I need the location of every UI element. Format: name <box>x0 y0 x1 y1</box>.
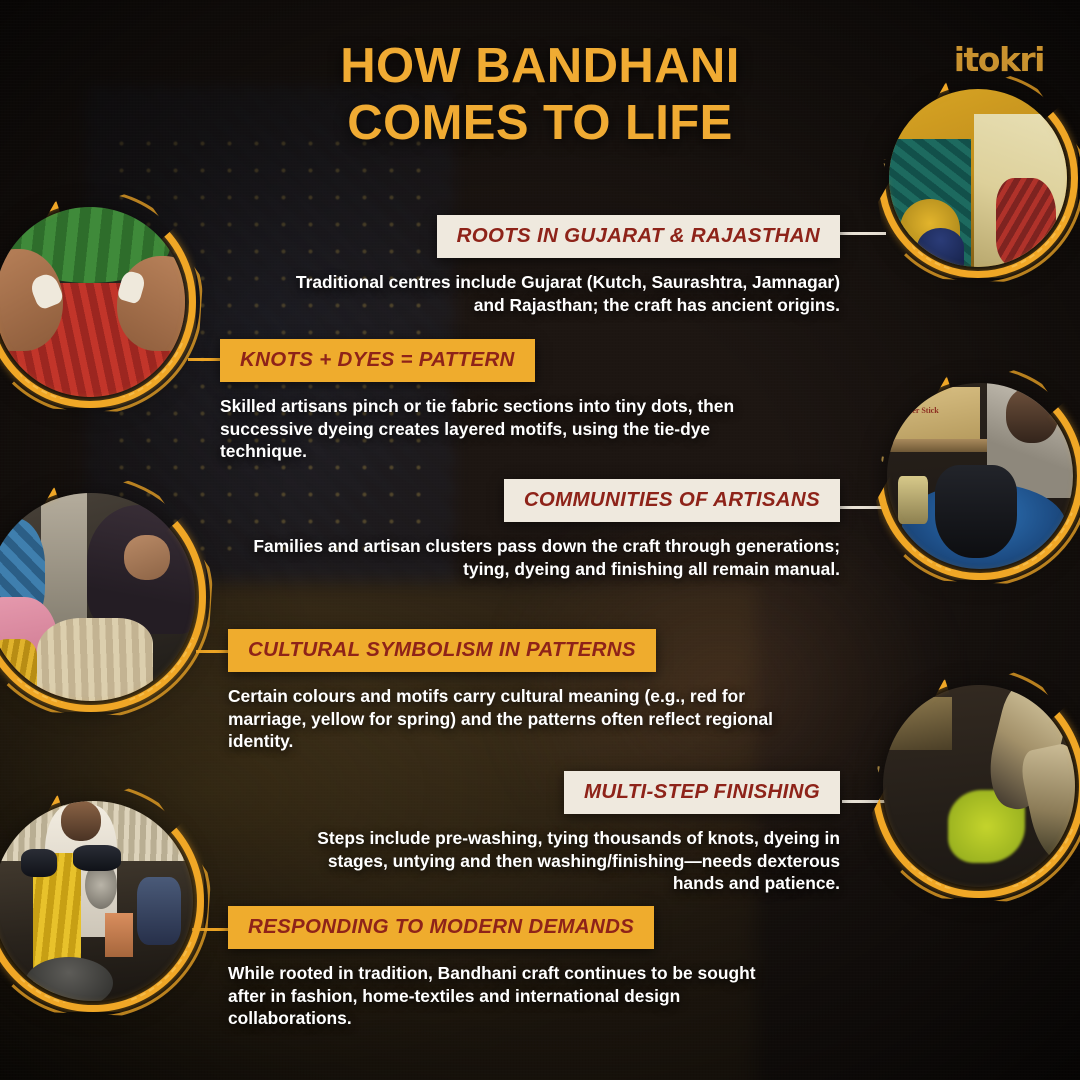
section-2-body: Skilled artisans pinch or tie fabric sec… <box>220 395 770 463</box>
section-5-heading: MULTI-STEP FINISHING <box>564 771 840 814</box>
section-3-heading: COMMUNITIES OF ARTISANS <box>504 479 840 522</box>
photo-lifting-yellow-skeins <box>0 790 204 1012</box>
photo-dye-vat-yellow <box>872 674 1080 898</box>
section-1-body: Traditional centres include Gujarat (Kut… <box>270 271 840 316</box>
section-4-body: Certain colours and motifs carry cultura… <box>228 685 788 753</box>
page-title: HOW BANDHANI COMES TO LIFE <box>0 38 1080 152</box>
section-2-heading: KNOTS + DYES = PATTERN <box>220 339 535 382</box>
page-title-line-1: HOW BANDHANI <box>0 38 1080 95</box>
section-1-heading: ROOTS IN GUJARAT & RAJASTHAN <box>437 215 840 258</box>
section-5: MULTI-STEP FINISHING Steps include pre-w… <box>310 771 840 895</box>
section-4-heading: CULTURAL SYMBOLISM IN PATTERNS <box>228 629 656 672</box>
photo-dyer-blue-tub: Y . Y Water Stick <box>876 372 1080 580</box>
section-3: COMMUNITIES OF ARTISANS Families and art… <box>230 479 840 580</box>
section-6-body: While rooted in tradition, Bandhani craf… <box>228 962 788 1030</box>
section-1: ROOTS IN GUJARAT & RAJASTHAN Traditional… <box>270 215 840 316</box>
section-6-heading: RESPONDING TO MODERN DEMANDS <box>228 906 654 949</box>
infographic-canvas: itokri HOW BANDHANI COMES TO LIFE <box>0 0 1080 1080</box>
section-5-body: Steps include pre-washing, tying thousan… <box>310 827 840 895</box>
photo-women-beige-fabric <box>0 482 206 712</box>
brand-logo[interactable]: itokri <box>954 40 1044 79</box>
section-3-body: Families and artisan clusters pass down … <box>230 535 840 580</box>
page-title-line-2: COMES TO LIFE <box>0 95 1080 152</box>
section-6: RESPONDING TO MODERN DEMANDS While roote… <box>228 906 788 1030</box>
photo-hands-tying-red-fabric <box>0 196 196 408</box>
section-2: KNOTS + DYES = PATTERN Skilled artisans … <box>220 339 770 463</box>
section-4: CULTURAL SYMBOLISM IN PATTERNS Certain c… <box>228 629 788 753</box>
